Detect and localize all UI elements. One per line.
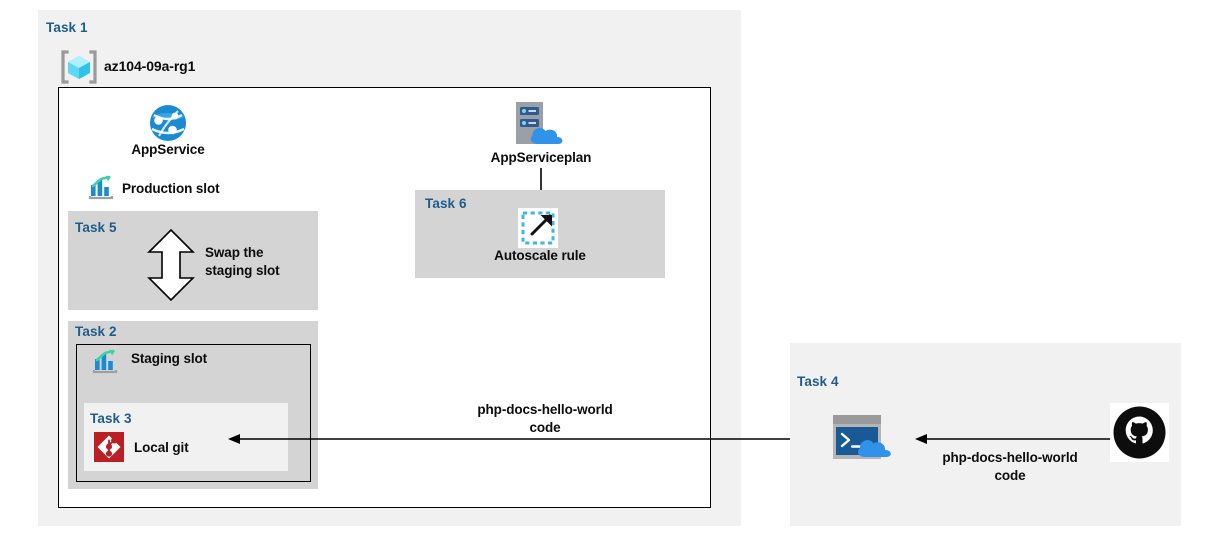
task5-label: Task 5 <box>75 220 117 235</box>
resource-group-name: az104-09a-rg1 <box>104 58 195 74</box>
edge-label-cloudshell-to-localgit-line2: code <box>445 420 645 437</box>
app-service-icon <box>148 103 188 143</box>
app-service-plan-label: AppServiceplan <box>451 150 631 165</box>
cloud-shell-icon <box>833 415 897 459</box>
github-icon <box>1110 403 1169 462</box>
autoscale-rule-icon <box>518 208 558 248</box>
staging-slot-label: Staging slot <box>131 351 207 366</box>
autoscale-rule-label: Autoscale rule <box>460 248 620 263</box>
deployment-slot-icon-production <box>88 174 116 200</box>
task1-label: Task 1 <box>46 20 88 35</box>
edge-label-github-to-cloudshell-line1: php-docs-hello-world <box>910 450 1110 467</box>
edge-label-github-to-cloudshell-line2: code <box>910 468 1110 485</box>
production-slot-label: Production slot <box>122 181 220 196</box>
task4-label: Task 4 <box>797 374 839 389</box>
swap-double-arrow-icon <box>146 228 196 302</box>
diagram-canvas: Task 1 az104-09a-rg1 AppService <box>0 0 1218 545</box>
git-icon <box>94 432 124 462</box>
resource-group-icon <box>61 50 97 84</box>
local-git-label: Local git <box>134 440 189 455</box>
arrow-github-to-cloudshell <box>915 432 1110 446</box>
swap-action-label-line1: Swap the <box>205 245 263 260</box>
app-service-plan-icon <box>512 100 570 146</box>
swap-action-label-line2: staging slot <box>205 263 280 278</box>
task2-label: Task 2 <box>75 324 117 339</box>
edge-label-cloudshell-to-localgit-line1: php-docs-hello-world <box>445 402 645 419</box>
deployment-slot-icon-staging <box>92 348 120 374</box>
app-service-label: AppService <box>88 142 248 157</box>
task6-label: Task 6 <box>425 196 467 211</box>
task3-label: Task 3 <box>90 411 132 426</box>
